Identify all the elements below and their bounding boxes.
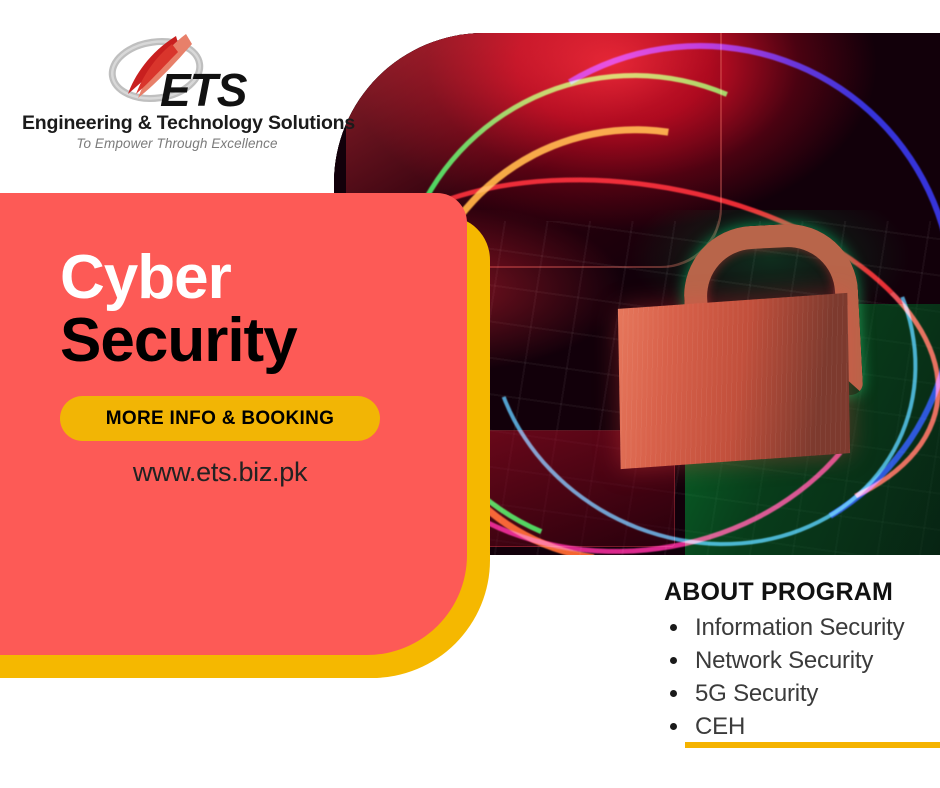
about-program-underline (685, 742, 940, 748)
headline-line-2: Security (60, 309, 440, 372)
promo-panel: Cyber Security MORE INFO & BOOKING www.e… (0, 193, 467, 655)
list-item: CEH (664, 710, 940, 743)
padlock-body-icon (618, 293, 850, 469)
more-info-booking-button[interactable]: MORE INFO & BOOKING (60, 396, 380, 441)
bullet-icon (670, 690, 677, 697)
list-item-label: Network Security (695, 647, 873, 674)
poster-canvas: ETS Engineering & Technology Solutions T… (0, 0, 940, 788)
website-url[interactable]: www.ets.biz.pk (60, 457, 380, 488)
brand-tagline: To Empower Through Excellence (22, 136, 332, 151)
list-item-label: 5G Security (695, 680, 818, 707)
bullet-icon (670, 657, 677, 664)
headline-line-1: Cyber (60, 248, 440, 309)
svg-text:ETS: ETS (160, 64, 248, 112)
brand-name: Engineering & Technology Solutions (22, 112, 332, 135)
about-program-list: Information Security Network Security 5G… (664, 611, 940, 743)
promo-content: Cyber Security MORE INFO & BOOKING www.e… (60, 248, 440, 488)
ets-flame-swoosh-icon: ETS (104, 30, 254, 112)
about-program-section: ABOUT PROGRAM Information Security Netwo… (664, 578, 940, 743)
list-item-label: CEH (695, 713, 745, 740)
bullet-icon (670, 624, 677, 631)
bullet-icon (670, 723, 677, 730)
brand-logo: ETS Engineering & Technology Solutions T… (22, 30, 332, 160)
list-item-label: Information Security (695, 614, 904, 641)
list-item: Network Security (664, 644, 940, 677)
list-item: Information Security (664, 611, 940, 644)
list-item: 5G Security (664, 677, 940, 710)
about-program-title: ABOUT PROGRAM (664, 578, 940, 607)
